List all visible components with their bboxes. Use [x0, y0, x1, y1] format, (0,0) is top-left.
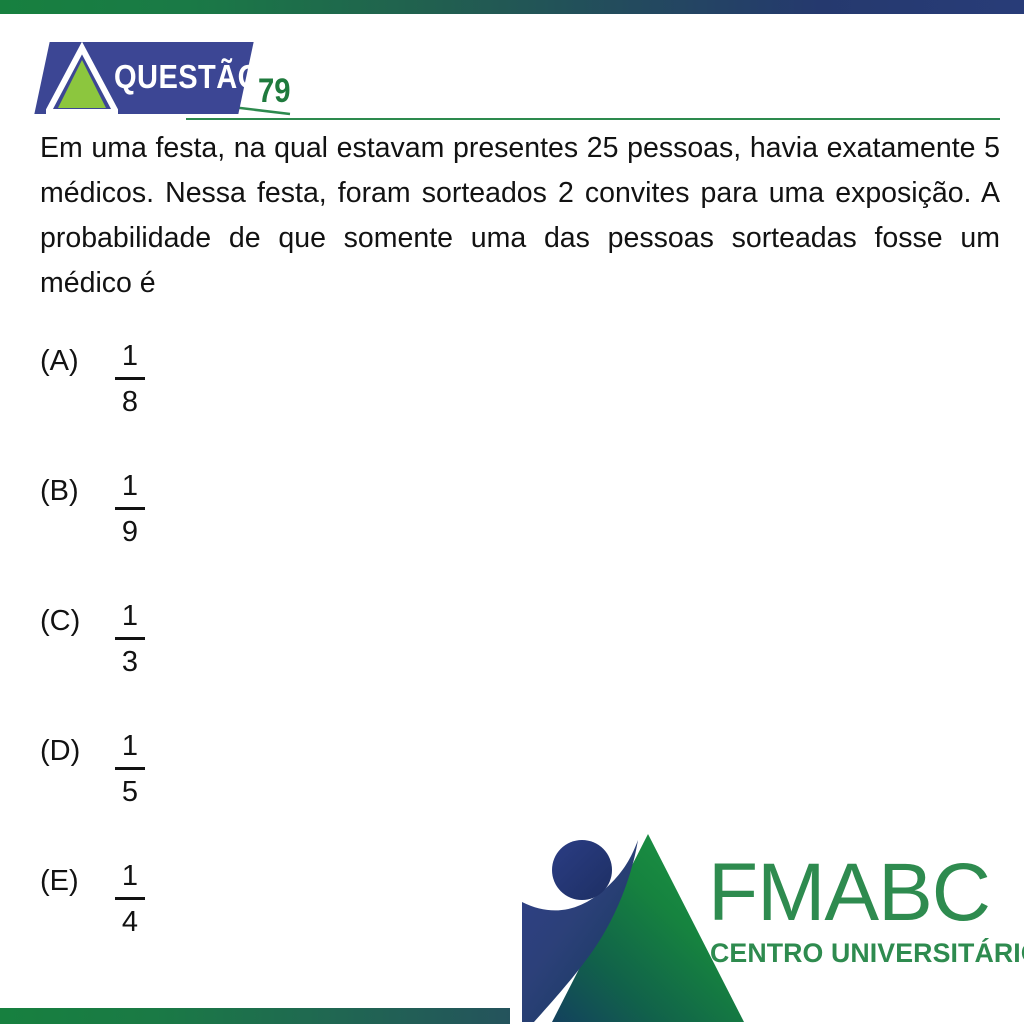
bottom-gradient-bar [0, 1008, 510, 1024]
fraction-numerator: 1 [110, 340, 150, 372]
fraction-denominator: 3 [110, 646, 150, 678]
fraction-denominator: 4 [110, 906, 150, 938]
question-statement: Em uma festa, na qual estavam presentes … [40, 126, 1000, 306]
answer-option-fraction: 1 9 [110, 470, 150, 548]
answer-option-fraction: 1 5 [110, 730, 150, 808]
fraction-numerator: 1 [110, 730, 150, 762]
question-number: 79 [258, 74, 291, 108]
fraction-numerator: 1 [110, 860, 150, 892]
question-statement-text: Em uma festa, na qual estavam presentes … [40, 126, 1000, 306]
answer-option-letter: (D) [40, 734, 80, 768]
answer-option-letter: (A) [40, 344, 79, 378]
answer-option-d[interactable]: (D) 1 5 [40, 730, 480, 860]
fmabc-logo-subtitle: CENTRO UNIVERSITÁRIO [710, 938, 1024, 968]
answer-option-fraction: 1 8 [110, 340, 150, 418]
fraction-bar [115, 377, 145, 380]
fraction-bar [115, 767, 145, 770]
answer-options-list: (A) 1 8 (B) 1 9 (C) 1 3 (D) 1 5 (E) [40, 340, 480, 990]
fraction-bar [115, 507, 145, 510]
answer-option-a[interactable]: (A) 1 8 [40, 340, 480, 470]
fraction-bar [115, 637, 145, 640]
fraction-bar [115, 897, 145, 900]
answer-option-e[interactable]: (E) 1 4 [40, 860, 480, 990]
fmabc-logo-name: FMABC [708, 850, 990, 936]
fraction-denominator: 8 [110, 386, 150, 418]
answer-option-letter: (E) [40, 864, 79, 898]
fraction-numerator: 1 [110, 470, 150, 502]
fmabc-logo: FMABC CENTRO UNIVERSITÁRIO [512, 832, 1024, 1024]
answer-option-letter: (B) [40, 474, 79, 508]
answer-option-fraction: 1 4 [110, 860, 150, 938]
top-gradient-bar [0, 0, 1024, 14]
header-horizontal-rule [186, 118, 1000, 120]
fraction-denominator: 9 [110, 516, 150, 548]
question-badge-label: QUESTÃO [114, 54, 230, 100]
answer-option-c[interactable]: (C) 1 3 [40, 600, 480, 730]
fraction-numerator: 1 [110, 600, 150, 632]
answer-option-b[interactable]: (B) 1 9 [40, 470, 480, 600]
fraction-denominator: 5 [110, 776, 150, 808]
fmabc-logo-text: FMABC CENTRO UNIVERSITÁRIO [708, 850, 1024, 1010]
answer-option-letter: (C) [40, 604, 80, 638]
question-header: QUESTÃO 79 [0, 28, 1024, 108]
answer-option-fraction: 1 3 [110, 600, 150, 678]
mountain-triangle-icon [46, 42, 118, 114]
